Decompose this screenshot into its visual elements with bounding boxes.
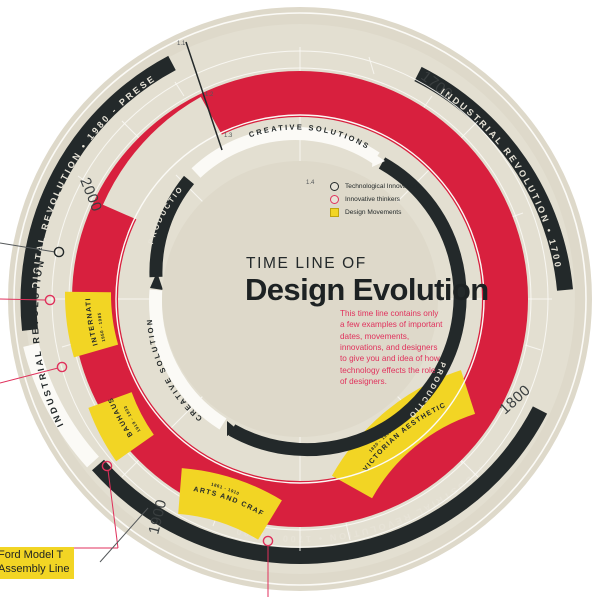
circle-outline-red-icon [330,195,339,204]
page-title: Design Evolution [245,272,489,308]
callout-line-1: Ford Model T [0,549,70,563]
square-yellow-icon [330,208,339,217]
legend-item-design-movements[interactable]: Design Movements [330,206,421,219]
legend: 1.4 Technological Innovations Innovative… [330,180,421,219]
step-label-1-1: 1.1 [177,41,186,47]
page-kicker: TIME LINE OF [246,255,367,273]
callout-line-2: Assembly Line [0,563,70,577]
callout-ford-model-t[interactable]: Ford Model T Assembly Line [0,547,74,579]
legend-item-label: Innovative thinkers [345,196,400,203]
step-label-1-2: 1.2 [205,92,214,98]
legend-item-technological-innovations[interactable]: Technological Innovations [330,180,421,193]
legend-item-innovative-thinkers[interactable]: Innovative thinkers [330,193,421,206]
infographic-canvas: DIGITAL REVOLUTION • 1980 - PRESENT INDU… [0,0,600,597]
legend-step-label: 1.4 [306,180,314,186]
legend-item-label: Technological Innovations [345,183,421,190]
page-description: This time line contains only a few examp… [340,308,444,387]
legend-item-label: Design Movements [345,209,401,216]
step-label-1-3: 1.3 [224,133,233,139]
circle-outline-black-icon [330,182,339,191]
